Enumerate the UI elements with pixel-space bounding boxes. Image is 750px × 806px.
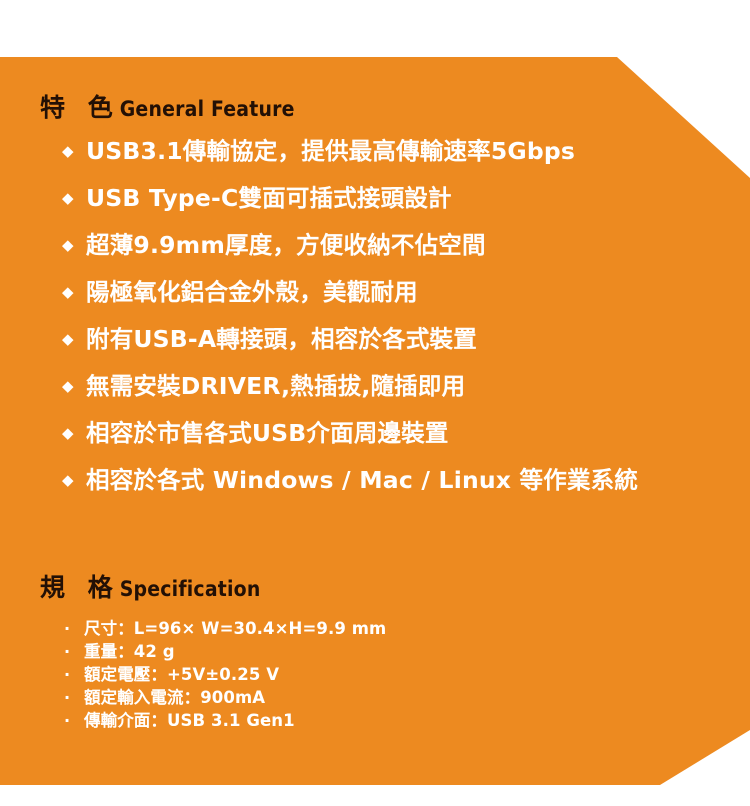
- diamond-bullet-icon: ◆: [62, 183, 74, 213]
- product-spec-banner: 特 色General Feature ◆ USB3.1傳輸協定，提供最高傳輸速率…: [0, 0, 750, 806]
- diamond-bullet-icon: ◆: [62, 277, 74, 307]
- feature-item-label: 相容於各式 Windows / Mac / Linux 等作業系統: [86, 466, 638, 494]
- spec-item-label: 傳輸介面：USB 3.1 Gen1: [84, 711, 295, 730]
- spec-list-item: · 額定電壓：+5V±0.25 V: [62, 663, 386, 686]
- feature-list-item: ◆ USB3.1傳輸協定，提供最高傳輸速率5Gbps: [62, 136, 638, 183]
- diamond-bullet-icon: ◆: [62, 371, 74, 401]
- feature-item-label: 無需安裝DRIVER,熱插拔,隨插即用: [86, 372, 465, 400]
- features-list: ◆ USB3.1傳輸協定，提供最高傳輸速率5Gbps ◆ USB Type-C雙…: [62, 136, 638, 512]
- feature-list-item: ◆ 相容於各式 Windows / Mac / Linux 等作業系統: [62, 465, 638, 512]
- dot-bullet-icon: ·: [64, 709, 70, 732]
- dot-bullet-icon: ·: [64, 617, 70, 640]
- spec-item-label: 額定輸入電流：900mA: [84, 688, 265, 707]
- feature-list-item: ◆ USB Type-C雙面可插式接頭設計: [62, 183, 638, 230]
- feature-list-item: ◆ 超薄9.9mm厚度，方便收納不佔空間: [62, 230, 638, 277]
- dot-bullet-icon: ·: [64, 686, 70, 709]
- dot-bullet-icon: ·: [64, 640, 70, 663]
- feature-item-label: 相容於市售各式USB介面周邊裝置: [86, 419, 449, 447]
- features-heading-cjk: 特 色: [40, 93, 120, 122]
- feature-item-label: 附有USB-A轉接頭，相容於各式裝置: [86, 325, 477, 353]
- diamond-bullet-icon: ◆: [62, 324, 74, 354]
- feature-list-item: ◆ 相容於市售各式USB介面周邊裝置: [62, 418, 638, 465]
- spec-list-item: · 傳輸介面：USB 3.1 Gen1: [62, 709, 386, 732]
- spec-item-label: 額定電壓：+5V±0.25 V: [84, 665, 279, 684]
- specification-list: · 尺寸：L=96× W=30.4×H=9.9 mm · 重量：42 g · 額…: [62, 617, 386, 732]
- feature-item-label: 超薄9.9mm厚度，方便收納不佔空間: [86, 231, 486, 259]
- spec-list-item: · 重量：42 g: [62, 640, 386, 663]
- spec-list-item: · 額定輸入電流：900mA: [62, 686, 386, 709]
- features-section-heading: 特 色General Feature: [40, 88, 295, 124]
- feature-item-label: 陽極氧化鋁合金外殼，美觀耐用: [86, 278, 418, 306]
- specification-section-heading: 規 格Specification: [40, 568, 261, 604]
- specification-heading-cjk: 規 格: [40, 573, 120, 602]
- spec-item-label: 尺寸：L=96× W=30.4×H=9.9 mm: [84, 619, 386, 638]
- feature-list-item: ◆ 附有USB-A轉接頭，相容於各式裝置: [62, 324, 638, 371]
- diamond-bullet-icon: ◆: [62, 418, 74, 448]
- feature-list-item: ◆ 陽極氧化鋁合金外殼，美觀耐用: [62, 277, 638, 324]
- features-heading-latin: General Feature: [120, 97, 295, 121]
- specification-heading-latin: Specification: [120, 577, 261, 601]
- dot-bullet-icon: ·: [64, 663, 70, 686]
- diamond-bullet-icon: ◆: [62, 465, 74, 495]
- spec-list-item: · 尺寸：L=96× W=30.4×H=9.9 mm: [62, 617, 386, 640]
- feature-item-label: USB Type-C雙面可插式接頭設計: [86, 184, 452, 212]
- feature-item-label: USB3.1傳輸協定，提供最高傳輸速率5Gbps: [86, 137, 575, 165]
- diamond-bullet-icon: ◆: [62, 136, 74, 166]
- diamond-bullet-icon: ◆: [62, 230, 74, 260]
- spec-item-label: 重量：42 g: [84, 642, 175, 661]
- feature-list-item: ◆ 無需安裝DRIVER,熱插拔,隨插即用: [62, 371, 638, 418]
